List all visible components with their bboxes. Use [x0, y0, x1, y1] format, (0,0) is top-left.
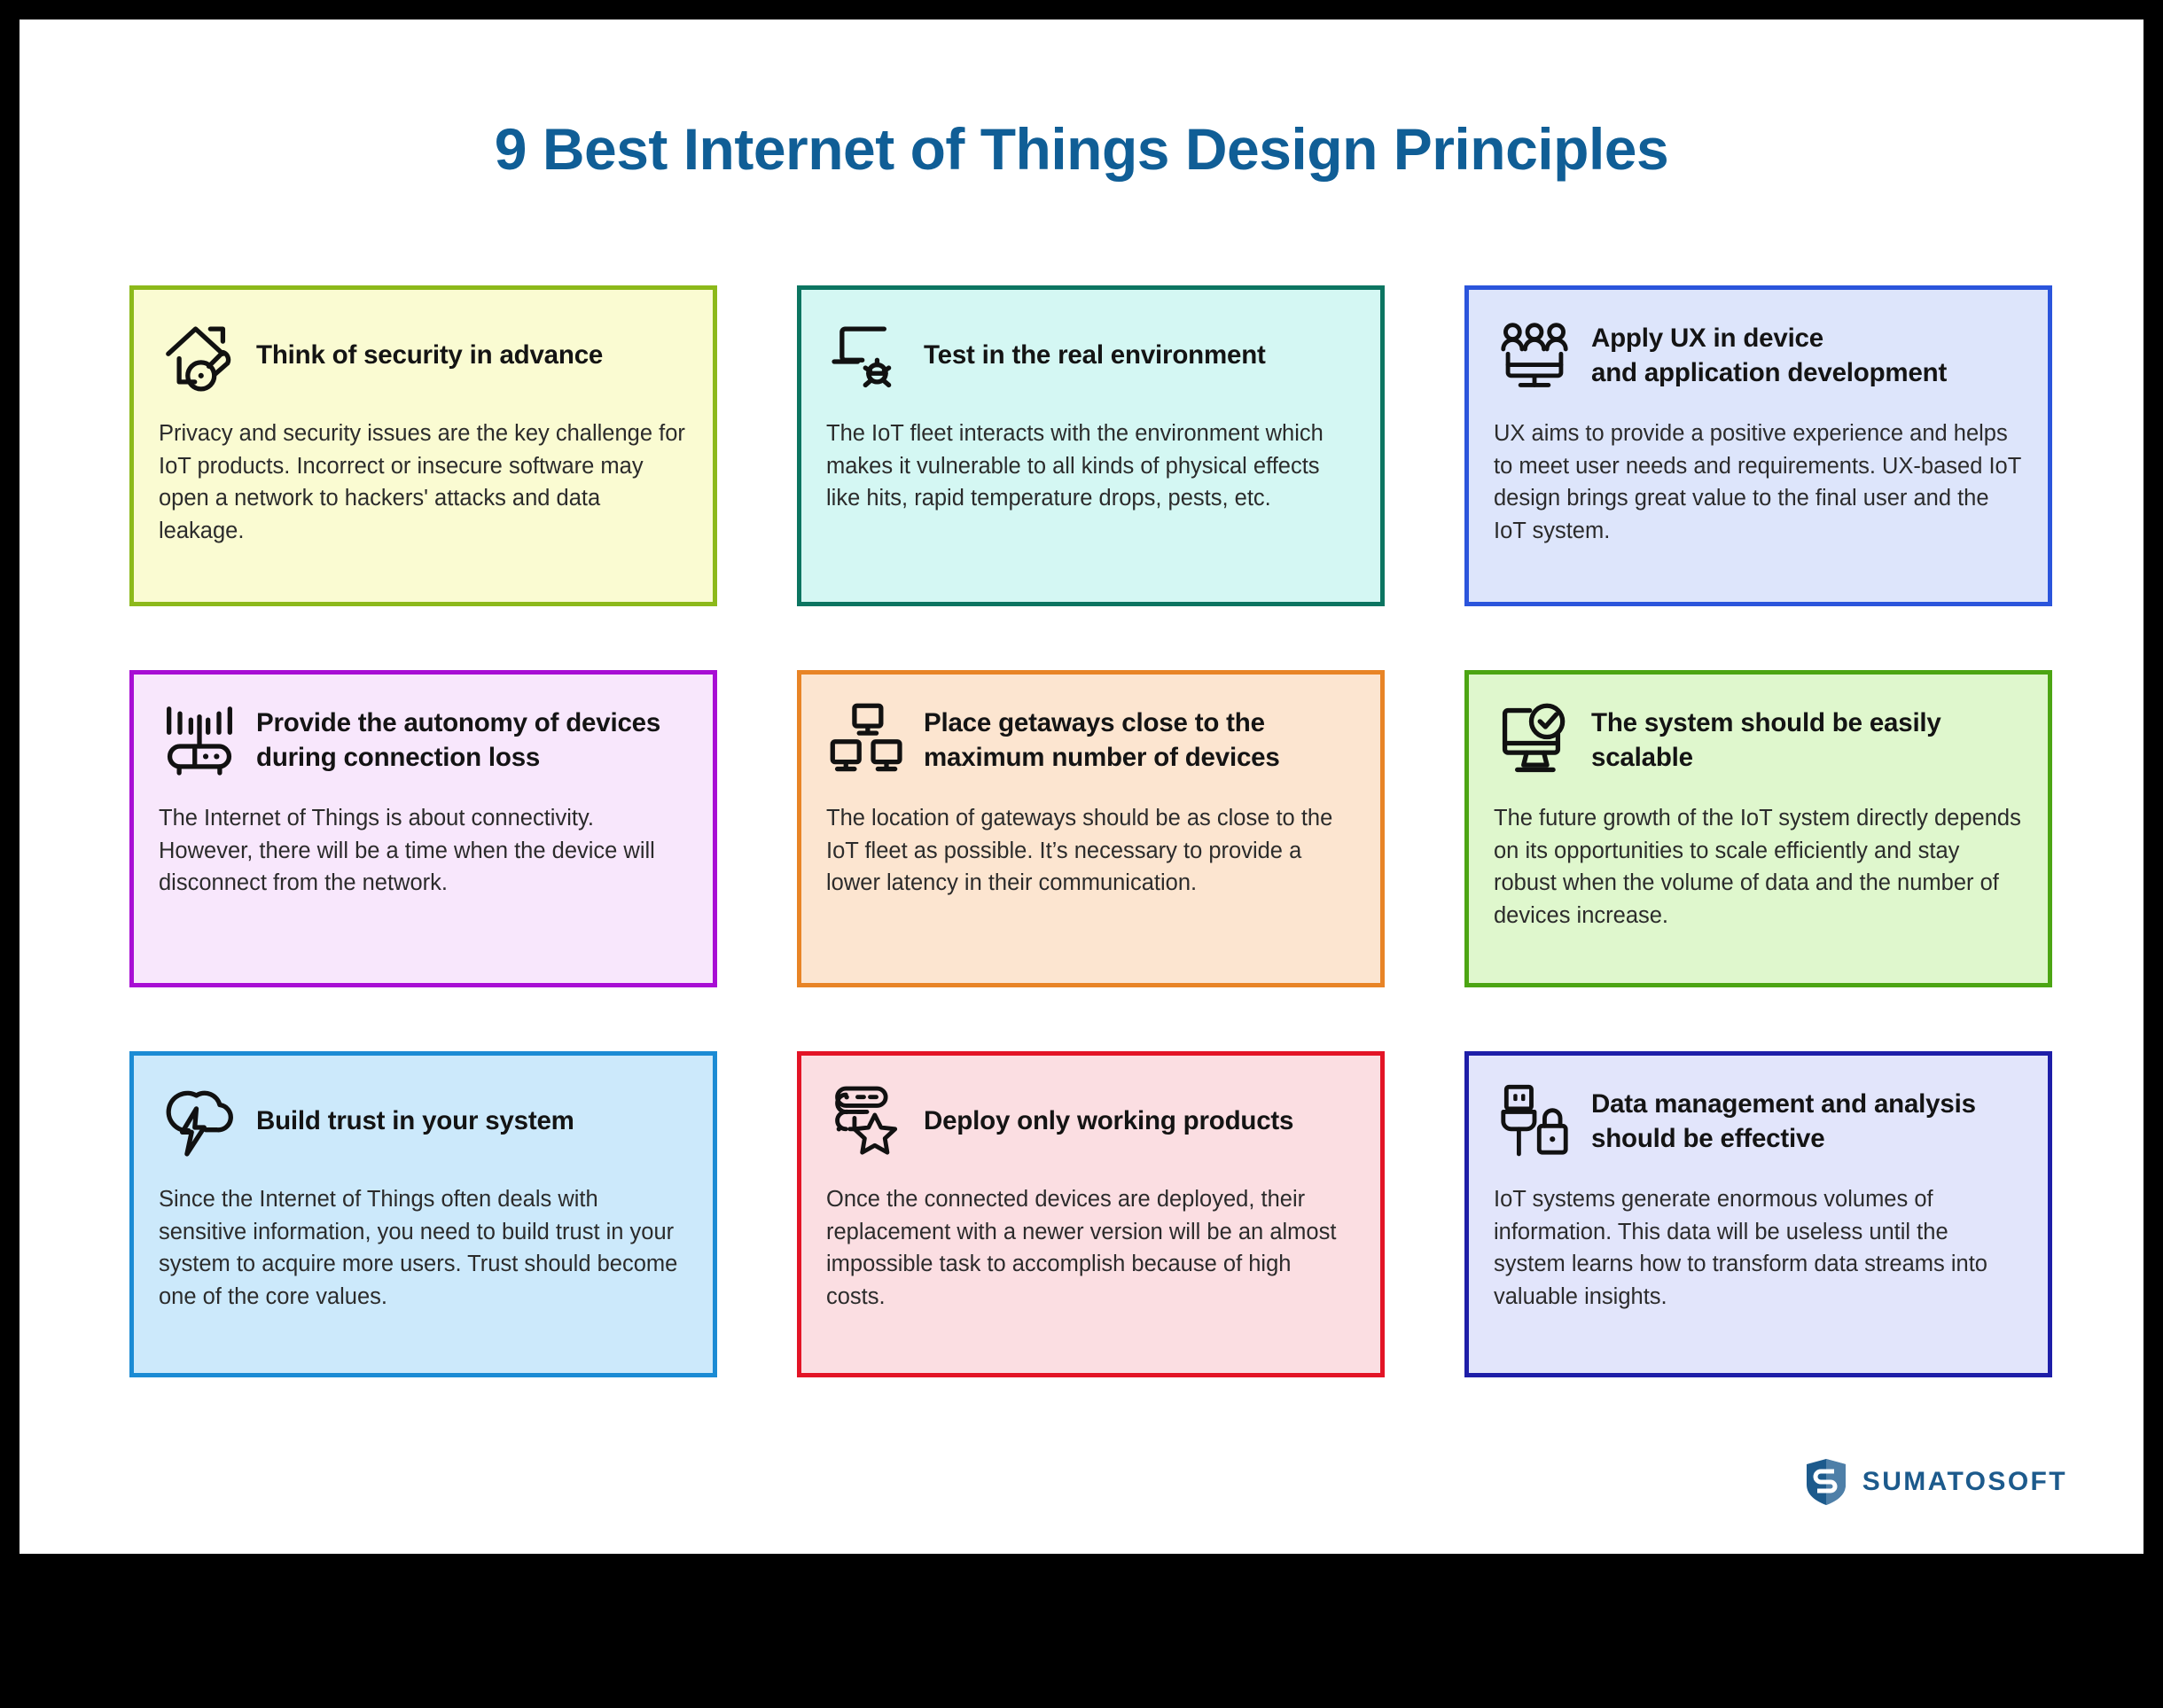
card-title: Build trust in your system: [256, 1104, 574, 1138]
card-body: The future growth of the IoT system dire…: [1494, 802, 2023, 932]
card-title: Provide the autonomy of devices during c…: [256, 706, 660, 775]
card-body: Since the Internet of Things often deals…: [159, 1183, 688, 1314]
card-header: Build trust in your system: [159, 1079, 688, 1164]
principle-card-provide-the-autonomy-of-devices-during-connection-loss[interactable]: Provide the autonomy of devices during c…: [129, 670, 717, 987]
card-title: Apply UX in device and application devel…: [1591, 321, 1947, 390]
card-body: The IoT fleet interacts with the environ…: [826, 417, 1355, 515]
server-star-icon: [826, 1080, 908, 1162]
principles-grid: Think of security in advance Privacy and…: [129, 285, 2071, 1377]
card-header: Place getaways close to the maximum numb…: [826, 698, 1355, 783]
card-body: Privacy and security issues are the key …: [159, 417, 688, 548]
principle-card-place-getaways-close-to-the-maximum-number-of-devices[interactable]: Place getaways close to the maximum numb…: [797, 670, 1385, 987]
page-title: 9 Best Internet of Things Design Princip…: [20, 115, 2143, 183]
card-title: Place getaways close to the maximum numb…: [924, 706, 1280, 775]
card-header: Think of security in advance: [159, 313, 688, 398]
card-header: Test in the real environment: [826, 313, 1355, 398]
cloud-bolt-icon: [159, 1080, 240, 1162]
usb-lock-icon: [1494, 1080, 1575, 1162]
card-title: Think of security in advance: [256, 338, 603, 372]
card-title: The system should be easily scalable: [1591, 706, 1941, 775]
card-header: The system should be easily scalable: [1494, 698, 2023, 783]
monitors-network-icon: [826, 699, 908, 781]
monitor-check-icon: [1494, 699, 1575, 781]
card-header: Apply UX in device and application devel…: [1494, 313, 2023, 398]
card-body: IoT systems generate enormous volumes of…: [1494, 1183, 2023, 1314]
house-key-icon: [159, 315, 240, 396]
sumatosoft-logo[interactable]: SUMATOSOFT: [1804, 1458, 2067, 1506]
card-header: Deploy only working products: [826, 1079, 1355, 1164]
principle-card-build-trust-in-your-system[interactable]: Build trust in your system Since the Int…: [129, 1051, 717, 1377]
principle-card-test-in-the-real-environment[interactable]: Test in the real environment The IoT fle…: [797, 285, 1385, 606]
principle-card-apply-ux-in-device-and-application-development[interactable]: Apply UX in device and application devel…: [1464, 285, 2052, 606]
principle-card-data-management-and-analysis-should-be-effective[interactable]: Data management and analysis should be e…: [1464, 1051, 2052, 1377]
card-title: Data management and analysis should be e…: [1591, 1087, 1976, 1156]
card-header: Provide the autonomy of devices during c…: [159, 698, 688, 783]
principle-card-deploy-only-working-products[interactable]: Deploy only working products Once the co…: [797, 1051, 1385, 1377]
logo-text: SUMATOSOFT: [1862, 1467, 2067, 1497]
principle-card-the-system-should-be-easily-scalable[interactable]: The system should be easily scalable The…: [1464, 670, 2052, 987]
card-header: Data management and analysis should be e…: [1494, 1079, 2023, 1164]
users-monitor-icon: [1494, 315, 1575, 396]
card-title: Deploy only working products: [924, 1104, 1293, 1138]
poster-frame: 9 Best Internet of Things Design Princip…: [20, 19, 2143, 1554]
card-body: UX aims to provide a positive experience…: [1494, 417, 2023, 548]
principle-card-think-of-security-in-advance[interactable]: Think of security in advance Privacy and…: [129, 285, 717, 606]
shield-s-icon: [1804, 1458, 1848, 1506]
card-title: Test in the real environment: [924, 338, 1266, 372]
monitor-bug-icon: [826, 315, 908, 396]
router-signal-icon: [159, 699, 240, 781]
card-body: The Internet of Things is about connecti…: [159, 802, 688, 900]
card-body: Once the connected devices are deployed,…: [826, 1183, 1355, 1314]
card-body: The location of gateways should be as cl…: [826, 802, 1355, 900]
